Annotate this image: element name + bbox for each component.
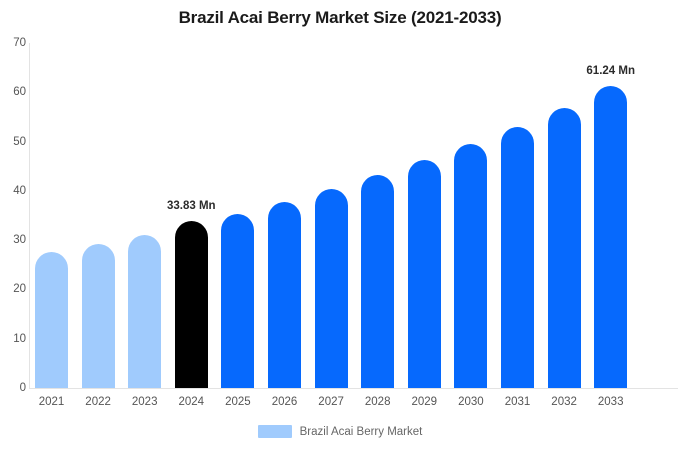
bar-chart: Brazil Acai Berry Market Size (2021-2033…: [0, 0, 680, 450]
bar-value-label-2024: 33.83 Mn: [167, 200, 216, 212]
y-axis-tick-label: 10: [2, 333, 26, 345]
y-axis-tick-label: 60: [2, 86, 26, 98]
bar-2022[interactable]: [82, 43, 115, 388]
y-axis-tick-labels: 010203040506070: [0, 0, 26, 450]
bar-2033[interactable]: [594, 43, 627, 388]
bar-2024[interactable]: [175, 43, 208, 388]
bar-rect-2026[interactable]: [268, 202, 301, 388]
bar-rect-2029[interactable]: [408, 160, 441, 388]
bar-rect-2033[interactable]: [594, 86, 627, 388]
bar-2032[interactable]: [548, 43, 581, 388]
bar-2027[interactable]: [315, 43, 348, 388]
bar-rect-2028[interactable]: [361, 175, 394, 388]
bar-2030[interactable]: [454, 43, 487, 388]
bar-rect-2022[interactable]: [82, 244, 115, 388]
y-axis-tick-label: 70: [2, 37, 26, 49]
y-axis-tick-label: 30: [2, 234, 26, 246]
bar-rect-2024[interactable]: [175, 221, 208, 388]
bar-2023[interactable]: [128, 43, 161, 388]
bar-2021[interactable]: [35, 43, 68, 388]
x-axis-tick-label-2033: 2033: [581, 396, 641, 408]
bar-value-label-2033: 61.24 Mn: [586, 65, 635, 77]
y-axis-tick-label: 0: [2, 382, 26, 394]
bar-2025[interactable]: [221, 43, 254, 388]
legend-swatch-brazil-acai-berry-market: [258, 425, 292, 438]
chart-legend: Brazil Acai Berry Market: [0, 425, 680, 438]
y-axis-tick-label: 20: [2, 283, 26, 295]
bar-rect-2032[interactable]: [548, 108, 581, 388]
legend-label-brazil-acai-berry-market: Brazil Acai Berry Market: [300, 426, 423, 438]
bar-2026[interactable]: [268, 43, 301, 388]
y-axis-tick-label: 40: [2, 185, 26, 197]
bar-2031[interactable]: [501, 43, 534, 388]
bar-rect-2023[interactable]: [128, 235, 161, 388]
bar-rect-2027[interactable]: [315, 189, 348, 388]
bar-rect-2021[interactable]: [35, 252, 68, 388]
chart-title: Brazil Acai Berry Market Size (2021-2033…: [0, 8, 680, 28]
plot-area: [29, 43, 678, 388]
bar-rect-2031[interactable]: [501, 127, 534, 388]
bar-2029[interactable]: [408, 43, 441, 388]
y-axis-tick-label: 50: [2, 136, 26, 148]
bar-rect-2030[interactable]: [454, 144, 487, 388]
x-axis-line: [29, 388, 678, 389]
bar-2028[interactable]: [361, 43, 394, 388]
bar-rect-2025[interactable]: [221, 214, 254, 388]
